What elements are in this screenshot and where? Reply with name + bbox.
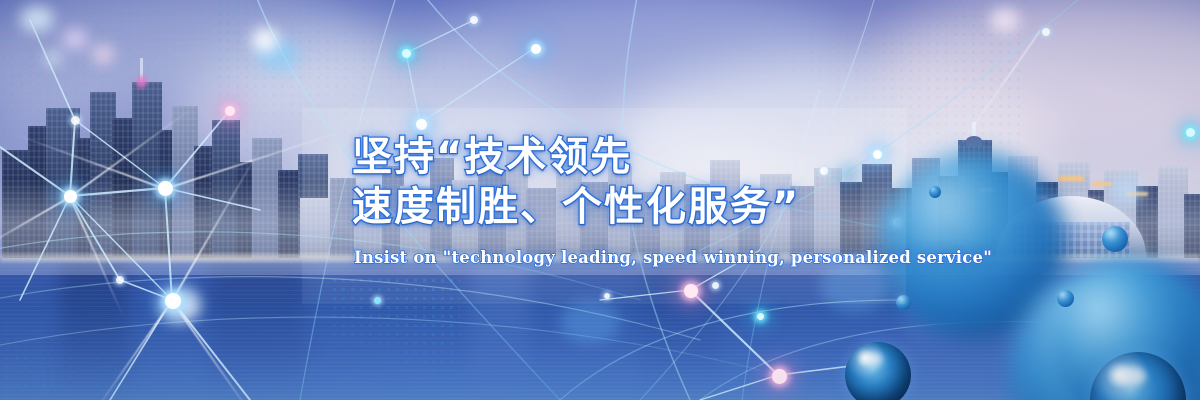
light-beam [947, 30, 1040, 162]
hero-banner: 坚持“技术领先速度制胜、个性化服务” Insist on "technology… [0, 0, 1200, 400]
network-node [1186, 128, 1195, 137]
network-node [64, 190, 77, 203]
light-beam [69, 108, 192, 198]
network-node [470, 16, 478, 24]
pavilion-glass-facade [1010, 222, 1130, 258]
left-city-skyline [0, 78, 330, 258]
halftone-dot-pattern [0, 0, 260, 200]
lens-flare [990, 8, 1020, 32]
lens-flare [252, 28, 278, 52]
lens-flare [62, 28, 88, 50]
banner-headline: 坚持“技术领先速度制胜、个性化服务” [352, 132, 892, 232]
network-node [402, 49, 411, 58]
cloud-shape [430, 0, 850, 150]
network-node [893, 218, 903, 228]
network-node [225, 106, 235, 116]
lens-flare [20, 6, 54, 32]
network-node [531, 44, 541, 54]
light-beam [0, 196, 71, 258]
cloud-shape [0, 0, 380, 150]
lens-flare [256, 38, 300, 72]
water-streak-texture [0, 258, 1200, 400]
network-node [416, 119, 427, 130]
headline-line-1: 坚持“技术领先 [352, 134, 632, 180]
banner-subtitle: Insist on "technology leading, speed win… [354, 248, 892, 267]
banner-text-block: 坚持“技术领先速度制胜、个性化服务” Insist on "technology… [352, 132, 892, 267]
lens-flare [1110, 176, 1144, 206]
lens-flare [44, 50, 62, 66]
network-node [1042, 28, 1050, 36]
light-beam [14, 133, 165, 190]
blue-sphere [929, 186, 941, 198]
lens-flare [92, 44, 114, 64]
cloud-shape [880, 0, 1200, 150]
network-node [158, 181, 173, 196]
cloud-shape [40, 90, 340, 210]
light-beam [165, 129, 346, 190]
headline-line-2: 速度制胜、个性化服务” [352, 182, 892, 232]
network-node [71, 116, 80, 125]
